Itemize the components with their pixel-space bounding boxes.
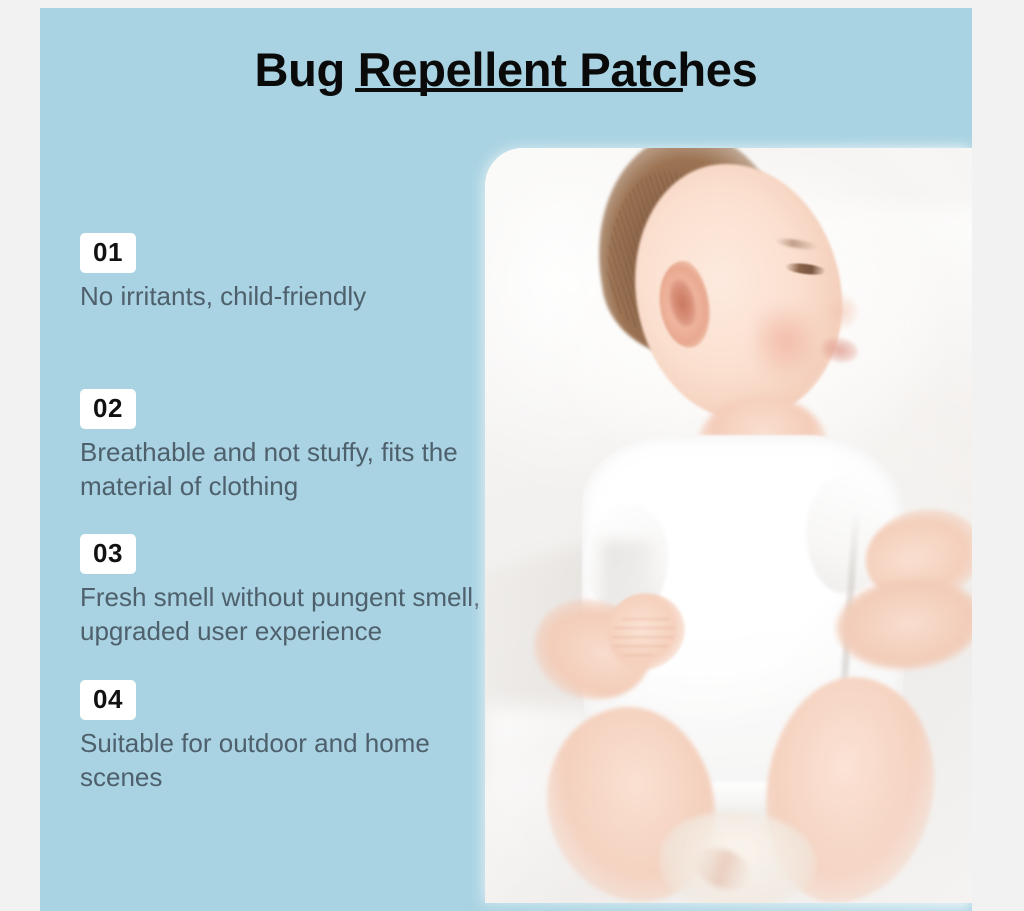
title-underline: [355, 88, 683, 92]
feature-item-03: 03 Fresh smell without pungent smell, up…: [80, 534, 500, 649]
feature-item-01: 01 No irritants, child-friendly: [80, 233, 366, 313]
baby-nose: [828, 295, 857, 328]
feature-number-badge: 03: [80, 534, 136, 574]
feature-number-badge: 04: [80, 680, 136, 720]
feature-item-04: 04 Suitable for outdoor and home scenes: [80, 680, 500, 795]
feature-number-badge: 02: [80, 389, 136, 429]
product-feature-card: Bug Repellent Patches 01 No irritants, c…: [40, 8, 972, 911]
feature-number-badge: 01: [80, 233, 136, 273]
feature-description: Suitable for outdoor and home scenes: [80, 726, 500, 795]
feature-description: Breathable and not stuffy, fits the mate…: [80, 435, 500, 504]
baby-photo: [485, 148, 972, 903]
baby-photo-illustration: [485, 148, 972, 903]
feature-description: Fresh smell without pungent smell, upgra…: [80, 580, 500, 649]
feature-description: No irritants, child-friendly: [80, 279, 366, 313]
baby-cheek: [753, 307, 816, 375]
feature-item-02: 02 Breathable and not stuffy, fits the m…: [80, 389, 500, 504]
page-root: Bug Repellent Patches 01 No irritants, c…: [0, 0, 1024, 911]
